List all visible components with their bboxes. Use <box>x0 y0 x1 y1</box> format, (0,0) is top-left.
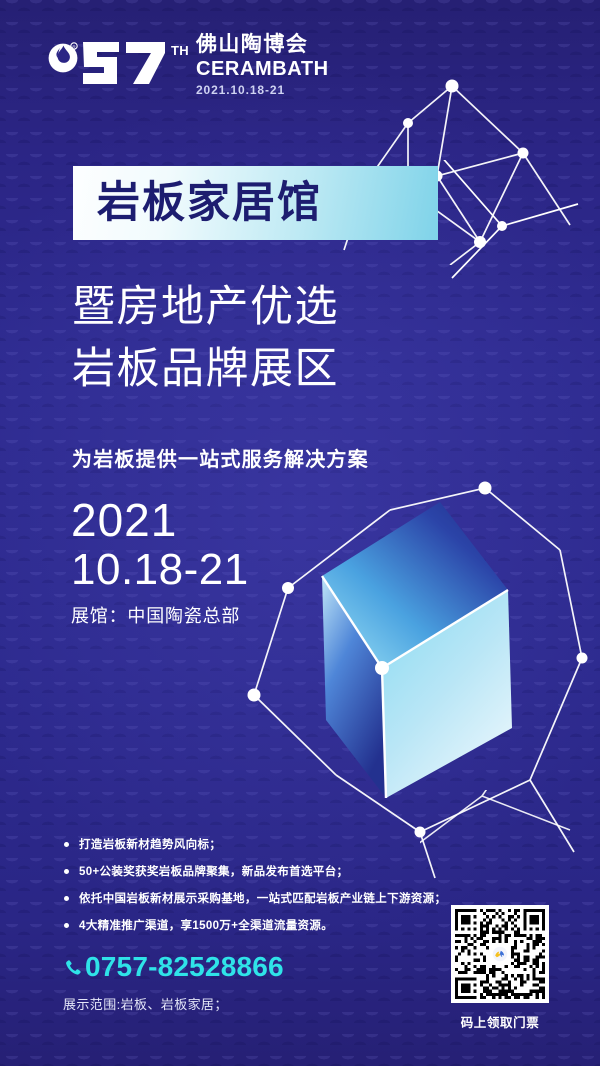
list-item-label: 打造岩板新材趋势风向标； <box>79 836 221 852</box>
list-item-label: 4大精准推广渠道，享1500万+全渠道流量资源。 <box>79 917 333 933</box>
exhibit-scope: 展示范围:岩板、岩板家居； <box>63 994 228 1013</box>
edition-number-37-icon <box>81 39 167 87</box>
qr-block[interactable]: 码上领取门票 <box>451 905 549 1031</box>
bullet-dot-icon <box>64 896 69 901</box>
headline-banner: 岩板家居馆 <box>73 166 438 240</box>
event-logo: R TH 佛山陶博会 CERAMBATH 2021.10.18-21 <box>48 33 329 97</box>
list-item: 50+公装奖获奖岩板品牌聚集，新品发布首选平台； <box>64 863 446 879</box>
qr-caption: 码上领取门票 <box>451 1012 549 1031</box>
logo-date: 2021.10.18-21 <box>196 83 329 97</box>
event-date-range: 10.18-21 <box>71 548 249 592</box>
logo-en-name: CERAMBATH <box>196 58 329 80</box>
headline-banner-text: 岩板家居馆 <box>97 182 322 225</box>
headline-line-2: 暨房地产优选 <box>72 286 339 329</box>
flame-droplet-icon: R <box>48 37 78 77</box>
poster: R TH 佛山陶博会 CERAMBATH 2021.10.18-21 岩板家居馆… <box>0 0 600 1066</box>
highlight-list: 打造岩板新材趋势风向标； 50+公装奖获奖岩板品牌聚集，新品发布首选平台； 依托… <box>64 836 446 944</box>
qr-center-logo-icon <box>489 943 511 965</box>
list-item-label: 50+公装奖获奖岩板品牌聚集，新品发布首选平台； <box>79 863 348 879</box>
headline-line-3: 岩板品牌展区 <box>72 348 339 391</box>
bullet-dot-icon <box>64 923 69 928</box>
logo-cn-name: 佛山陶博会 <box>196 34 329 57</box>
logo-wordmark: 佛山陶博会 CERAMBATH 2021.10.18-21 <box>196 34 329 97</box>
ordinal-suffix: TH <box>171 43 189 58</box>
list-item: 依托中国岩板新材展示采购基地，一站式匹配岩板产业链上下游资源； <box>64 890 446 906</box>
tagline: 为岩板提供一站式服务解决方案 <box>72 443 369 472</box>
list-item: 打造岩板新材趋势风向标； <box>64 836 446 852</box>
phone-number: 0757-82528866 <box>85 953 284 981</box>
event-venue: 展馆：中国陶瓷总部 <box>71 602 240 628</box>
event-year: 2021 <box>71 497 177 543</box>
phone-handset-icon <box>63 958 82 977</box>
bottom-decor-lines-icon <box>420 790 600 920</box>
bullet-dot-icon <box>64 869 69 874</box>
bullet-dot-icon <box>64 842 69 847</box>
isometric-cube-icon <box>230 480 600 880</box>
list-item-label: 依托中国岩板新材展示采购基地，一站式匹配岩板产业链上下游资源； <box>79 890 446 906</box>
banner-corner-lines-icon <box>410 160 600 290</box>
list-item: 4大精准推广渠道，享1500万+全渠道流量资源。 <box>64 917 446 933</box>
contact-phone[interactable]: 0757-82528866 <box>63 953 284 981</box>
qr-code-icon[interactable] <box>451 905 549 1003</box>
